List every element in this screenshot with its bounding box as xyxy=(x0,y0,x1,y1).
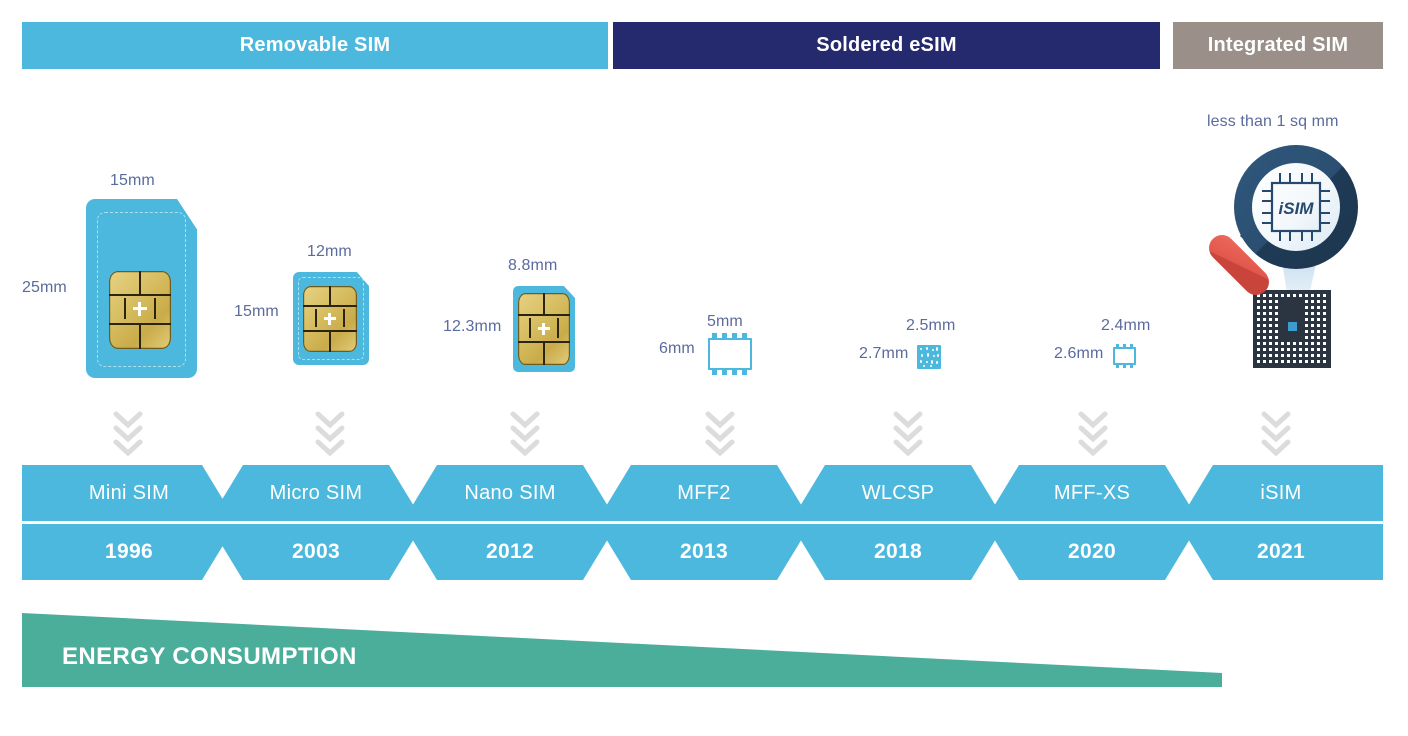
nano-sim-height-label: 12.3mm xyxy=(443,318,501,336)
magnifier-isim-illustration: iSIM xyxy=(1196,140,1386,380)
timeline: Mini SIM Micro SIM Nano SIM MFF2 WLCSP M… xyxy=(22,465,1383,580)
micro-sim-width-label: 12mm xyxy=(307,243,352,261)
timeline-name-cell-mini-sim[interactable]: Mini SIM xyxy=(22,465,236,521)
category-bar-integrated-sim: Integrated SIM xyxy=(1173,22,1383,69)
timeline-year-cell-mini-sim[interactable]: 1996 xyxy=(22,524,236,580)
timeline-year-label: 2020 xyxy=(1068,540,1116,564)
wlcsp-height-label: 2.7mm xyxy=(859,345,908,363)
timeline-year-label: 1996 xyxy=(105,540,153,564)
timeline-name-label: WLCSP xyxy=(862,482,935,505)
energy-consumption-title: ENERGY CONSUMPTION xyxy=(62,643,357,671)
chevron-down-icon-wlcsp xyxy=(890,408,926,460)
chip-package-icon xyxy=(708,338,752,370)
timeline-year-cell-nano-sim[interactable]: 2012 xyxy=(403,524,617,580)
mffxs-height-label: 2.6mm xyxy=(1054,345,1103,363)
chevron-down-icon-micro-sim xyxy=(312,408,348,460)
mff2-width-label: 5mm xyxy=(707,313,743,331)
timeline-year-label: 2012 xyxy=(486,540,534,564)
sim-card-nano-icon xyxy=(513,286,575,372)
timeline-name-label: MFF-XS xyxy=(1054,482,1130,505)
micro-sim-height-label: 15mm xyxy=(234,303,279,321)
mini-sim-width-label: 15mm xyxy=(110,172,155,190)
timeline-year-label: 2013 xyxy=(680,540,728,564)
chevron-down-icon-mff2 xyxy=(702,408,738,460)
mini-sim-gold-chip xyxy=(109,271,171,349)
energy-consumption-banner: ENERGY CONSUMPTION xyxy=(22,613,1222,687)
sim-card-micro-icon xyxy=(293,272,369,365)
chevron-down-icon-nano-sim xyxy=(507,408,543,460)
timeline-name-cell-mff2[interactable]: MFF2 xyxy=(597,465,811,521)
category-label-soldered-esim: Soldered eSIM xyxy=(816,34,956,57)
timeline-year-cell-mffxs[interactable]: 2020 xyxy=(985,524,1199,580)
category-bar-removable-sim: Removable SIM xyxy=(22,22,608,69)
chevron-down-icon-mffxs xyxy=(1075,408,1111,460)
nano-sim-width-label: 8.8mm xyxy=(508,257,557,275)
timeline-name-label: Nano SIM xyxy=(464,482,555,505)
timeline-name-label: MFF2 xyxy=(677,482,730,505)
timeline-name-cell-micro-sim[interactable]: Micro SIM xyxy=(209,465,423,521)
timeline-names-row: Mini SIM Micro SIM Nano SIM MFF2 WLCSP M… xyxy=(22,465,1383,521)
micro-sim-gold-chip xyxy=(303,286,357,352)
timeline-name-label: Mini SIM xyxy=(89,482,169,505)
category-bar-soldered-esim: Soldered eSIM xyxy=(613,22,1160,69)
timeline-year-cell-wlcsp[interactable]: 2018 xyxy=(791,524,1005,580)
timeline-year-label: 2018 xyxy=(874,540,922,564)
isim-caption: less than 1 sq mm xyxy=(1207,113,1339,131)
sim-card-mini-icon xyxy=(86,199,197,378)
magnifier-isim-svg: iSIM xyxy=(1196,140,1386,380)
svg-text:iSIM: iSIM xyxy=(1279,199,1315,218)
timeline-name-cell-wlcsp[interactable]: WLCSP xyxy=(791,465,1005,521)
chevron-down-icon-mini-sim xyxy=(110,408,146,460)
wlcsp-width-label: 2.5mm xyxy=(906,317,955,335)
category-label-removable-sim: Removable SIM xyxy=(240,34,390,57)
timeline-name-label: iSIM xyxy=(1260,482,1301,505)
infographic-canvas: Removable SIM Soldered eSIM Integrated S… xyxy=(0,0,1408,736)
timeline-name-label: Micro SIM xyxy=(270,482,363,505)
mini-sim-height-label: 25mm xyxy=(22,279,67,297)
wafer-level-chip-icon xyxy=(917,345,941,369)
timeline-name-cell-nano-sim[interactable]: Nano SIM xyxy=(403,465,617,521)
timeline-year-cell-micro-sim[interactable]: 2003 xyxy=(209,524,423,580)
mff2-height-label: 6mm xyxy=(659,340,695,358)
chevron-down-icon-isim xyxy=(1258,408,1294,460)
mffxs-width-label: 2.4mm xyxy=(1101,317,1150,335)
timeline-years-row: 1996 2003 2012 2013 2018 2020 2021 xyxy=(22,524,1383,580)
timeline-year-cell-isim[interactable]: 2021 xyxy=(1179,524,1383,580)
timeline-name-cell-mffxs[interactable]: MFF-XS xyxy=(985,465,1199,521)
timeline-name-cell-isim[interactable]: iSIM xyxy=(1179,465,1383,521)
nano-sim-gold-chip xyxy=(518,293,570,365)
timeline-year-label: 2021 xyxy=(1257,540,1305,564)
category-label-integrated-sim: Integrated SIM xyxy=(1208,34,1349,57)
chip-package-small-icon xyxy=(1113,347,1136,365)
timeline-year-cell-mff2[interactable]: 2013 xyxy=(597,524,811,580)
timeline-year-label: 2003 xyxy=(292,540,340,564)
